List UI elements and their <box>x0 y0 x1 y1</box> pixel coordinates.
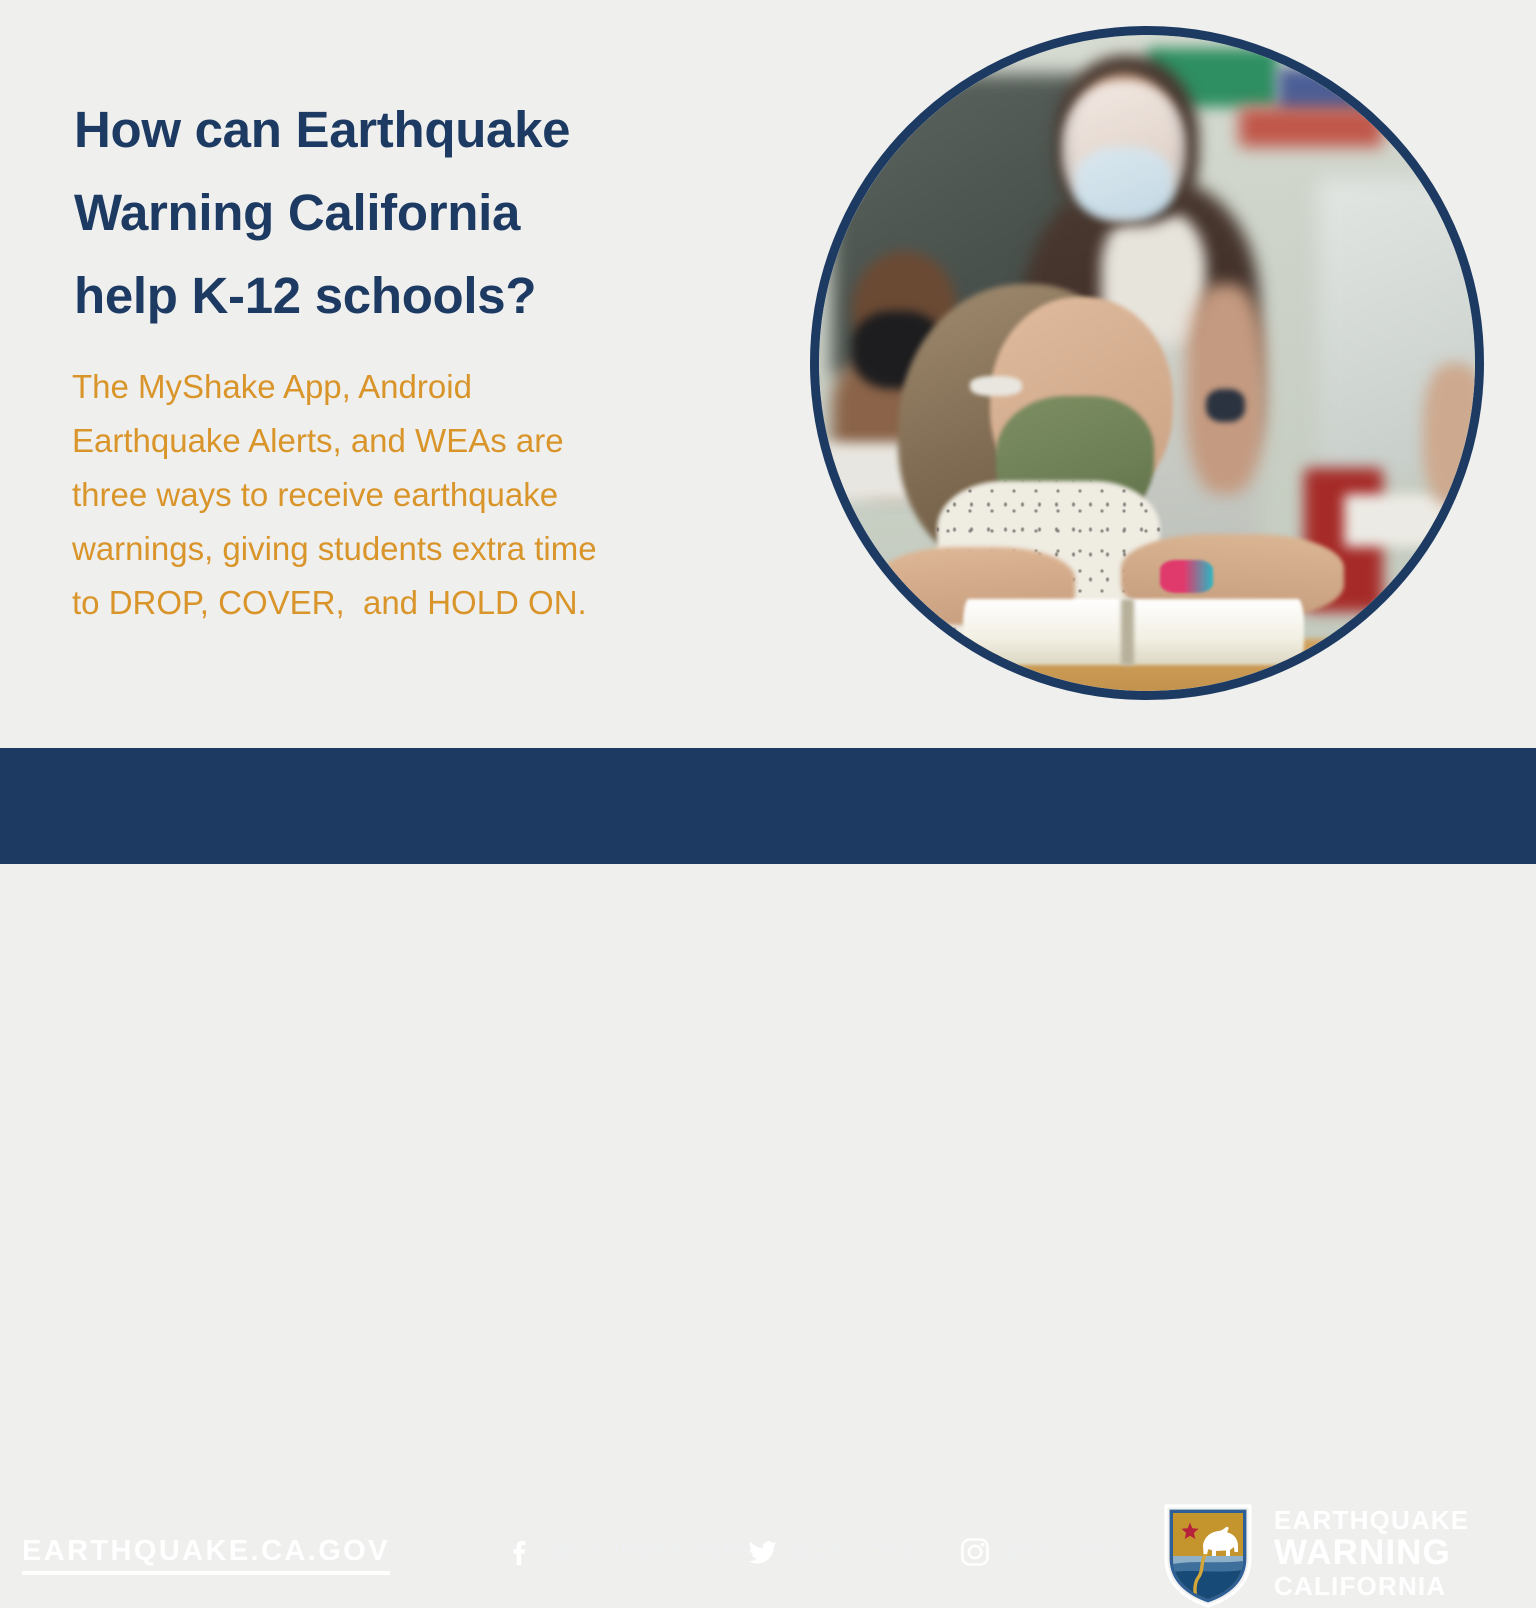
body-line-2: Earthquake Alerts, and WEAs are <box>72 414 762 468</box>
facebook-icon[interactable] <box>506 1537 536 1567</box>
logo-line-warning: WARNING <box>1274 1535 1469 1571</box>
photo-girl-watch <box>1160 560 1212 593</box>
photo-open-book <box>963 599 1304 665</box>
logo-wordmark: EARTHQUAKE WARNING CALIFORNIA <box>1274 1506 1469 1602</box>
photo-girl-mask-strap <box>970 376 1022 396</box>
logo-line-california: CALIFORNIA <box>1274 1571 1469 1602</box>
twitter-handle: @CAL_OES <box>791 1541 916 1563</box>
headline-line-1: How can Earthquake <box>74 88 774 171</box>
classroom-photo <box>810 26 1484 700</box>
photo-side-student-arm <box>1423 363 1475 507</box>
earthquake-warning-california-logo: EARTHQUAKE WARNING CALIFORNIA <box>1160 1500 1469 1608</box>
footer-bar: EARTHQUAKE.CA.GOV @CALIFORNIAOES @CAL_OE… <box>0 748 1536 864</box>
body-line-1: The MyShake App, Android <box>72 360 762 414</box>
facebook-handle: @CALIFORNIAOES <box>549 1541 753 1563</box>
social-instagram[interactable]: @CAL_OES <box>960 1537 1128 1567</box>
headline-line-2: Warning California <box>74 171 774 254</box>
body-line-3: three ways to receive earthquake <box>72 468 762 522</box>
classroom-photo-image <box>819 35 1475 691</box>
california-shield-bear-icon <box>1160 1500 1256 1608</box>
headline-line-3: help K-12 schools? <box>74 254 774 337</box>
social-facebook[interactable]: @CALIFORNIAOES <box>506 1537 753 1567</box>
photo-teacher-face-shield <box>1062 81 1187 219</box>
instagram-handle: @CAL_OES <box>1003 1541 1128 1563</box>
social-twitter[interactable]: @CAL_OES <box>748 1537 916 1567</box>
instagram-icon[interactable] <box>960 1537 990 1567</box>
twitter-icon[interactable] <box>748 1537 778 1567</box>
body-line-4: warnings, giving students extra time <box>72 522 762 576</box>
poster-canvas: How can Earthquake Warning California he… <box>0 0 1536 864</box>
page-title: How can Earthquake Warning California he… <box>74 88 774 337</box>
body-paragraph: The MyShake App, Android Earthquake Aler… <box>72 360 762 630</box>
photo-poster-red <box>1239 107 1383 146</box>
photo-book-spine <box>1121 599 1134 665</box>
website-url-link[interactable]: EARTHQUAKE.CA.GOV <box>22 1534 390 1575</box>
body-line-5: to DROP, COVER, and HOLD ON. <box>72 576 762 630</box>
photo-teacher-watch <box>1206 389 1245 422</box>
logo-line-earthquake: EARTHQUAKE <box>1274 1506 1469 1535</box>
